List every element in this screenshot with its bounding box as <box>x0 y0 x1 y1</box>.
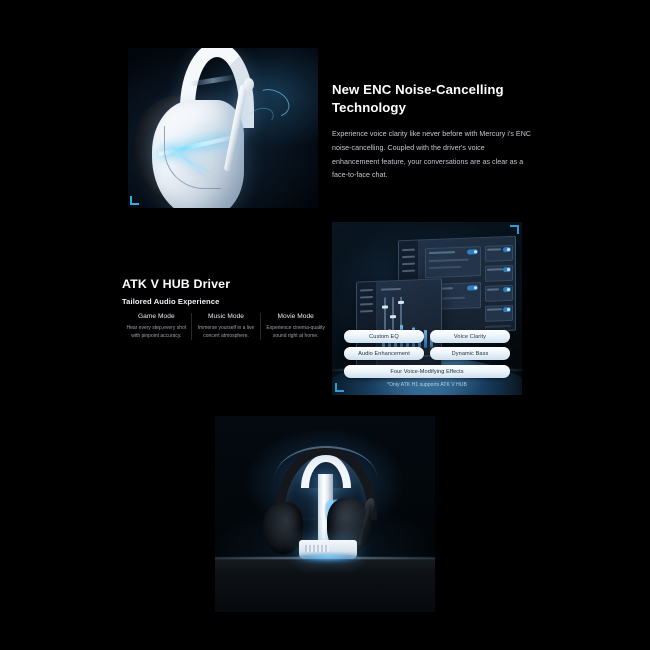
feature-pill-group: Custom EQ Voice Clarity Audio Enhancemen… <box>344 330 510 388</box>
mode-title: Game Mode <box>125 313 188 320</box>
hub-heading: ATK V HUB Driver <box>122 277 330 291</box>
mode-column-movie: Movie Mode Experience cinema-quality sou… <box>260 313 330 340</box>
feature-pill-audio-enhancement[interactable]: Audio Enhancement <box>344 347 424 360</box>
mode-columns: Game Mode Hear every step,every shot wit… <box>122 313 330 340</box>
hub-footnote: *Only ATK H1 supports ATK V HUB <box>344 382 510 388</box>
mode-title: Movie Mode <box>264 313 327 320</box>
feature-pill-row: Four Voice-Modifying Effects <box>344 365 510 378</box>
hub-subheading: Tailored Audio Experience <box>122 297 330 306</box>
corner-bracket-icon <box>335 383 344 392</box>
feature-pill-voice-clarity[interactable]: Voice Clarity <box>430 330 510 343</box>
mode-title: Music Mode <box>195 313 258 320</box>
mode-column-music: Music Mode Immerse yourself in a live co… <box>191 313 261 340</box>
feature-pill-dynamic-bass[interactable]: Dynamic Bass <box>430 347 510 360</box>
desk-surface <box>215 558 435 612</box>
feature-pill-row: Audio Enhancement Dynamic Bass <box>344 347 510 360</box>
hub-text-block: ATK V HUB Driver Tailored Audio Experien… <box>122 277 330 306</box>
mode-description: Experience cinema-quality sound right at… <box>264 324 327 341</box>
stand-base-glow <box>293 554 363 563</box>
headset-stand-image <box>215 416 435 612</box>
feature-pill-voice-modifying-effects[interactable]: Four Voice-Modifying Effects <box>344 365 510 378</box>
mode-column-game: Game Mode Hear every step,every shot wit… <box>122 313 191 340</box>
stand-control-buttons[interactable] <box>305 545 329 552</box>
corner-bracket-icon <box>510 225 519 234</box>
headset-earcup-left <box>263 502 303 554</box>
mode-description: Hear every step,every shot with pinpoint… <box>125 324 188 341</box>
feature-pill-row: Custom EQ Voice Clarity <box>344 330 510 343</box>
mode-description: Immerse yourself in a live concert atmos… <box>195 324 258 341</box>
feature-pill-custom-eq[interactable]: Custom EQ <box>344 330 424 343</box>
